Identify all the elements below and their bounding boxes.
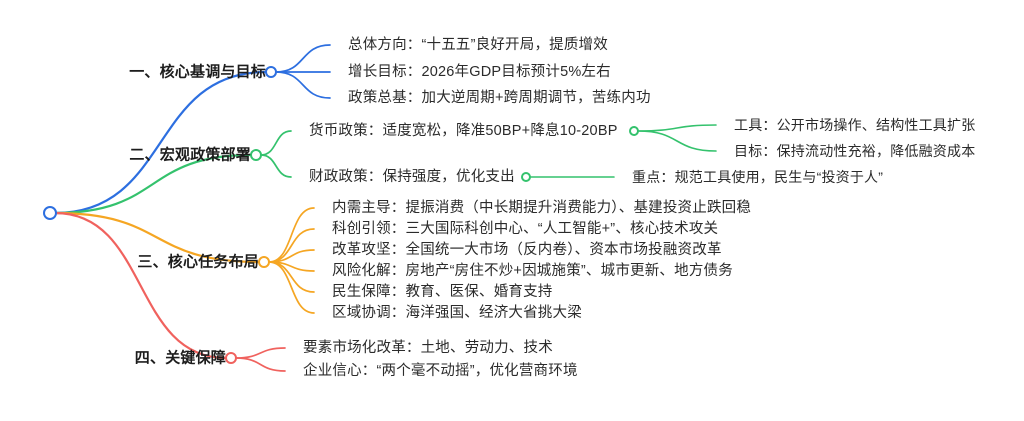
node-branch-3-child-5[interactable]: 民生保障：教育、医保、婚育支持 bbox=[332, 285, 553, 300]
edge-branch-2-child-1-to-branch-2-child-1-sub-1 bbox=[638, 125, 716, 131]
edge-branch-3-to-branch-3-child-4 bbox=[269, 262, 314, 271]
edge-branch-3-to-branch-3-child-5 bbox=[269, 262, 314, 292]
edge-branch-2-to-branch-2-child-2 bbox=[261, 155, 291, 177]
node-dot-branch-4[interactable] bbox=[226, 353, 236, 363]
node-branch-1-child-1[interactable]: 总体方向：“十五五”良好开局，提质增效 bbox=[348, 38, 608, 53]
node-branch-3-child-6[interactable]: 区域协调：海洋强国、经济大省挑大梁 bbox=[332, 306, 582, 321]
node-branch-3-child-2[interactable]: 科创引领：三大国际科创中心、“人工智能+”、核心技术攻关 bbox=[332, 222, 718, 237]
branch-label-2[interactable]: 二、宏观政策部署 bbox=[129, 148, 251, 163]
edge-root-to-branch-2 bbox=[55, 155, 251, 213]
node-dot-branch-2-child-1[interactable] bbox=[630, 127, 638, 135]
node-dot-branch-2-child-2[interactable] bbox=[522, 173, 530, 181]
edge-branch-4-to-branch-4-child-2 bbox=[236, 358, 285, 371]
edge-branch-3-to-branch-3-child-2 bbox=[269, 229, 314, 262]
branch-label-1[interactable]: 一、核心基调与目标 bbox=[129, 65, 266, 80]
node-branch-2-child-2-sub-1[interactable]: 重点：规范工具使用，民生与“投资于人” bbox=[632, 170, 883, 184]
node-dot-branch-3[interactable] bbox=[259, 257, 269, 267]
mindmap-canvas: 一、核心基调与目标 二、宏观政策部署 三、核心任务布局 四、关键保障 总体方向：… bbox=[0, 0, 1024, 421]
node-branch-4-child-2[interactable]: 企业信心：“两个毫不动摇”，优化营商环境 bbox=[303, 364, 578, 379]
node-branch-1-child-3[interactable]: 政策总基：加大逆周期+跨周期调节，苦练内功 bbox=[348, 91, 651, 106]
edge-branch-4-to-branch-4-child-1 bbox=[236, 348, 285, 358]
node-dot-branch-1[interactable] bbox=[266, 67, 276, 77]
branch-label-4[interactable]: 四、关键保障 bbox=[135, 351, 226, 366]
edge-branch-1-to-branch-1-child-3 bbox=[276, 72, 330, 98]
node-branch-2-child-2[interactable]: 财政政策：保持强度，优化支出 bbox=[309, 170, 515, 185]
edge-branch-3-to-branch-3-child-3 bbox=[269, 250, 314, 262]
edge-branch-3-to-branch-3-child-6 bbox=[269, 262, 314, 313]
node-dot-root[interactable] bbox=[44, 207, 56, 219]
node-branch-2-child-1-sub-1[interactable]: 工具：公开市场操作、结构性工具扩张 bbox=[734, 118, 975, 132]
node-branch-1-child-2[interactable]: 增长目标：2026年GDP目标预计5%左右 bbox=[348, 65, 611, 80]
edge-branch-2-child-1-to-branch-2-child-1-sub-2 bbox=[638, 131, 716, 151]
node-branch-2-child-1[interactable]: 货币政策：适度宽松，降准50BP+降息10-20BP bbox=[309, 124, 618, 139]
node-branch-4-child-1[interactable]: 要素市场化改革：土地、劳动力、技术 bbox=[303, 341, 553, 356]
branch-label-3[interactable]: 三、核心任务布局 bbox=[137, 255, 259, 270]
edge-branch-1-to-branch-1-child-1 bbox=[276, 45, 330, 72]
edge-root-to-branch-1 bbox=[55, 72, 266, 213]
node-branch-3-child-4[interactable]: 风险化解：房地产“房住不炒+因城施策”、城市更新、地方债务 bbox=[332, 264, 733, 279]
edge-branch-3-to-branch-3-child-1 bbox=[269, 208, 314, 262]
node-branch-3-child-1[interactable]: 内需主导：提振消费（中长期提升消费能力）、基建投资止跌回稳 bbox=[332, 201, 751, 216]
node-branch-3-child-3[interactable]: 改革攻坚：全国统一大市场（反内卷）、资本市场投融资改革 bbox=[332, 243, 722, 258]
node-dot-branch-2[interactable] bbox=[251, 150, 261, 160]
node-branch-2-child-1-sub-2[interactable]: 目标：保持流动性充裕，降低融资成本 bbox=[734, 144, 975, 158]
edge-root-to-branch-4 bbox=[55, 213, 226, 358]
edge-branch-2-to-branch-2-child-1 bbox=[261, 131, 291, 155]
